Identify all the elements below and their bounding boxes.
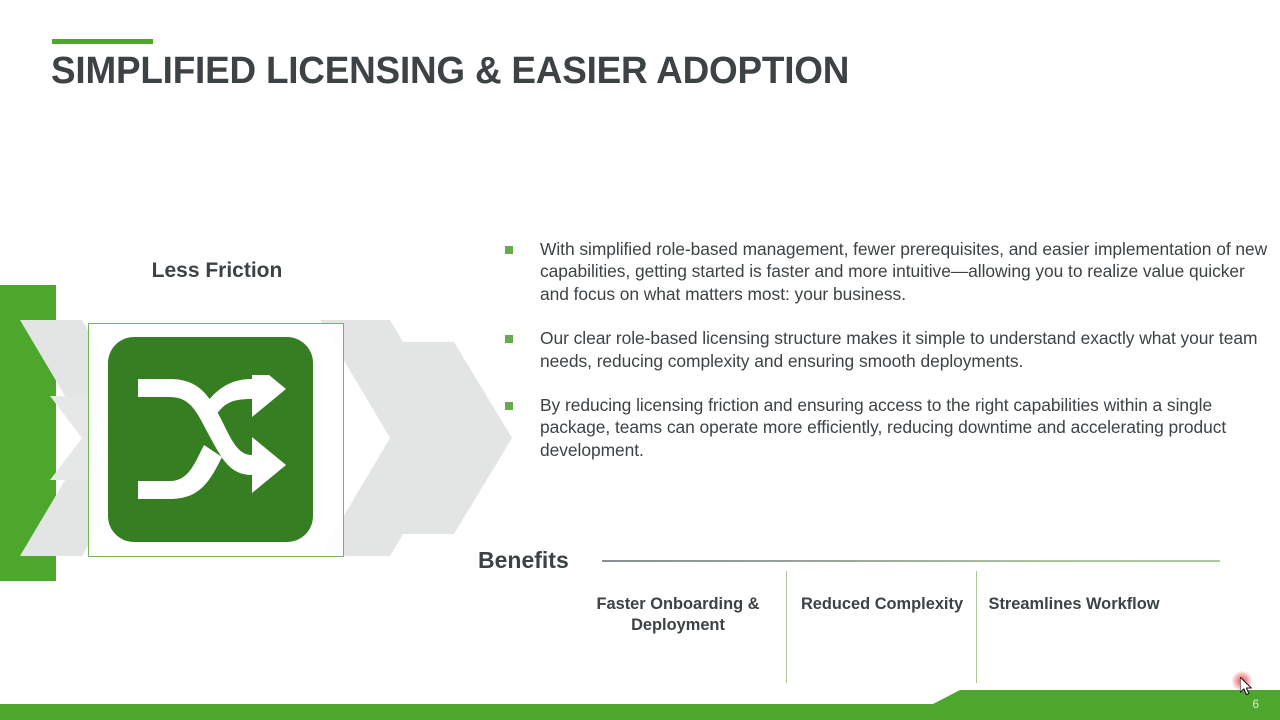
benefit-separator — [786, 571, 787, 683]
benefit-item-2: Reduced Complexity — [792, 594, 972, 615]
footer-band-shape — [0, 680, 1280, 720]
visual-tile — [108, 337, 313, 542]
list-item: By reducing licensing friction and ensur… — [503, 394, 1271, 461]
benefit-item-1: Faster Onboarding & Deployment — [572, 594, 784, 636]
shuffle-icon — [134, 375, 286, 503]
slide-canvas: SIMPLIFIED LICENSING & EASIER ADOPTION L… — [0, 0, 1280, 720]
list-item-text: By reducing licensing friction and ensur… — [540, 395, 1226, 460]
list-item: Our clear role-based licensing structure… — [503, 327, 1271, 372]
benefits-divider — [602, 560, 1220, 562]
list-item: With simplified role-based management, f… — [503, 238, 1271, 305]
list-item-text: Our clear role-based licensing structure… — [540, 328, 1257, 370]
benefits-heading: Benefits — [478, 547, 569, 574]
list-item-text: With simplified role-based management, f… — [540, 239, 1267, 304]
visual-label: Less Friction — [88, 259, 346, 283]
bullet-square-icon — [505, 335, 513, 343]
benefit-separator — [976, 571, 977, 683]
bullet-square-icon — [505, 246, 513, 254]
bullet-square-icon — [505, 402, 513, 410]
title-accent-rule — [52, 39, 153, 44]
bullet-list: With simplified role-based management, f… — [503, 238, 1271, 461]
benefit-item-3: Streamlines Workflow — [984, 594, 1164, 615]
slide-number: 6 — [1252, 697, 1259, 711]
page-title: SIMPLIFIED LICENSING & EASIER ADOPTION — [51, 50, 849, 93]
footer-band — [0, 680, 1280, 720]
